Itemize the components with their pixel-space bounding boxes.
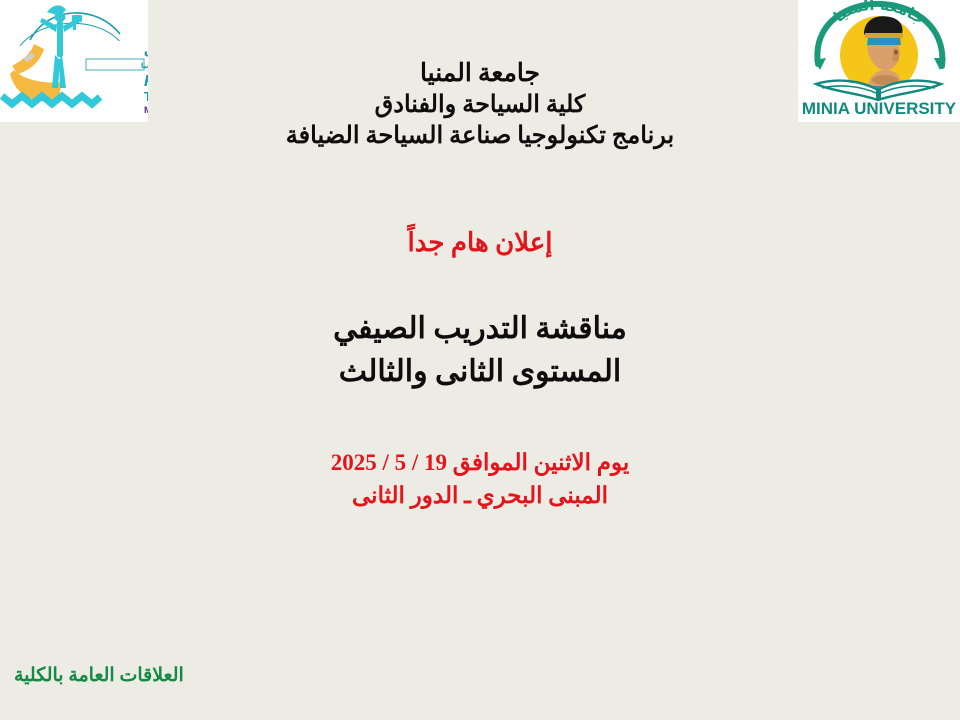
event-location-line: المبنى البحري ـ الدور الثانى — [0, 479, 960, 512]
header-line-program: برنامج تكنولوجيا صناعة السياحة الضيافة — [0, 121, 960, 152]
announcement-poster: كلية السياحة والفنادق جامعة المنيا Facul… — [0, 0, 960, 720]
header-line-faculty: كلية السياحة والفنادق — [0, 90, 960, 121]
event-date-line: يوم الاثنين الموافق 2025 / 5 / 19 — [0, 446, 960, 479]
event-date-prefix: يوم الاثنين الموافق — [453, 450, 629, 475]
announcement-title: إعلان هام جداً — [0, 228, 960, 258]
svg-text:كلية السياحة والفنادق: كلية السياحة والفنادق — [144, 43, 148, 58]
header-block: جامعة المنيا كلية السياحة والفنادق برنام… — [0, 58, 960, 151]
event-date-value: 2025 / 5 / 19 — [331, 446, 447, 479]
footer-public-relations: العلاقات العامة بالكلية — [14, 664, 184, 687]
main-heading-block: مناقشة التدريب الصيفي المستوى الثانى وال… — [0, 308, 960, 393]
main-heading-line-2: المستوى الثانى والثالث — [0, 351, 960, 394]
details-block: يوم الاثنين الموافق 2025 / 5 / 19 المبنى… — [0, 446, 960, 513]
header-line-university: جامعة المنيا — [0, 58, 960, 90]
main-heading-line-1: مناقشة التدريب الصيفي — [0, 308, 960, 351]
